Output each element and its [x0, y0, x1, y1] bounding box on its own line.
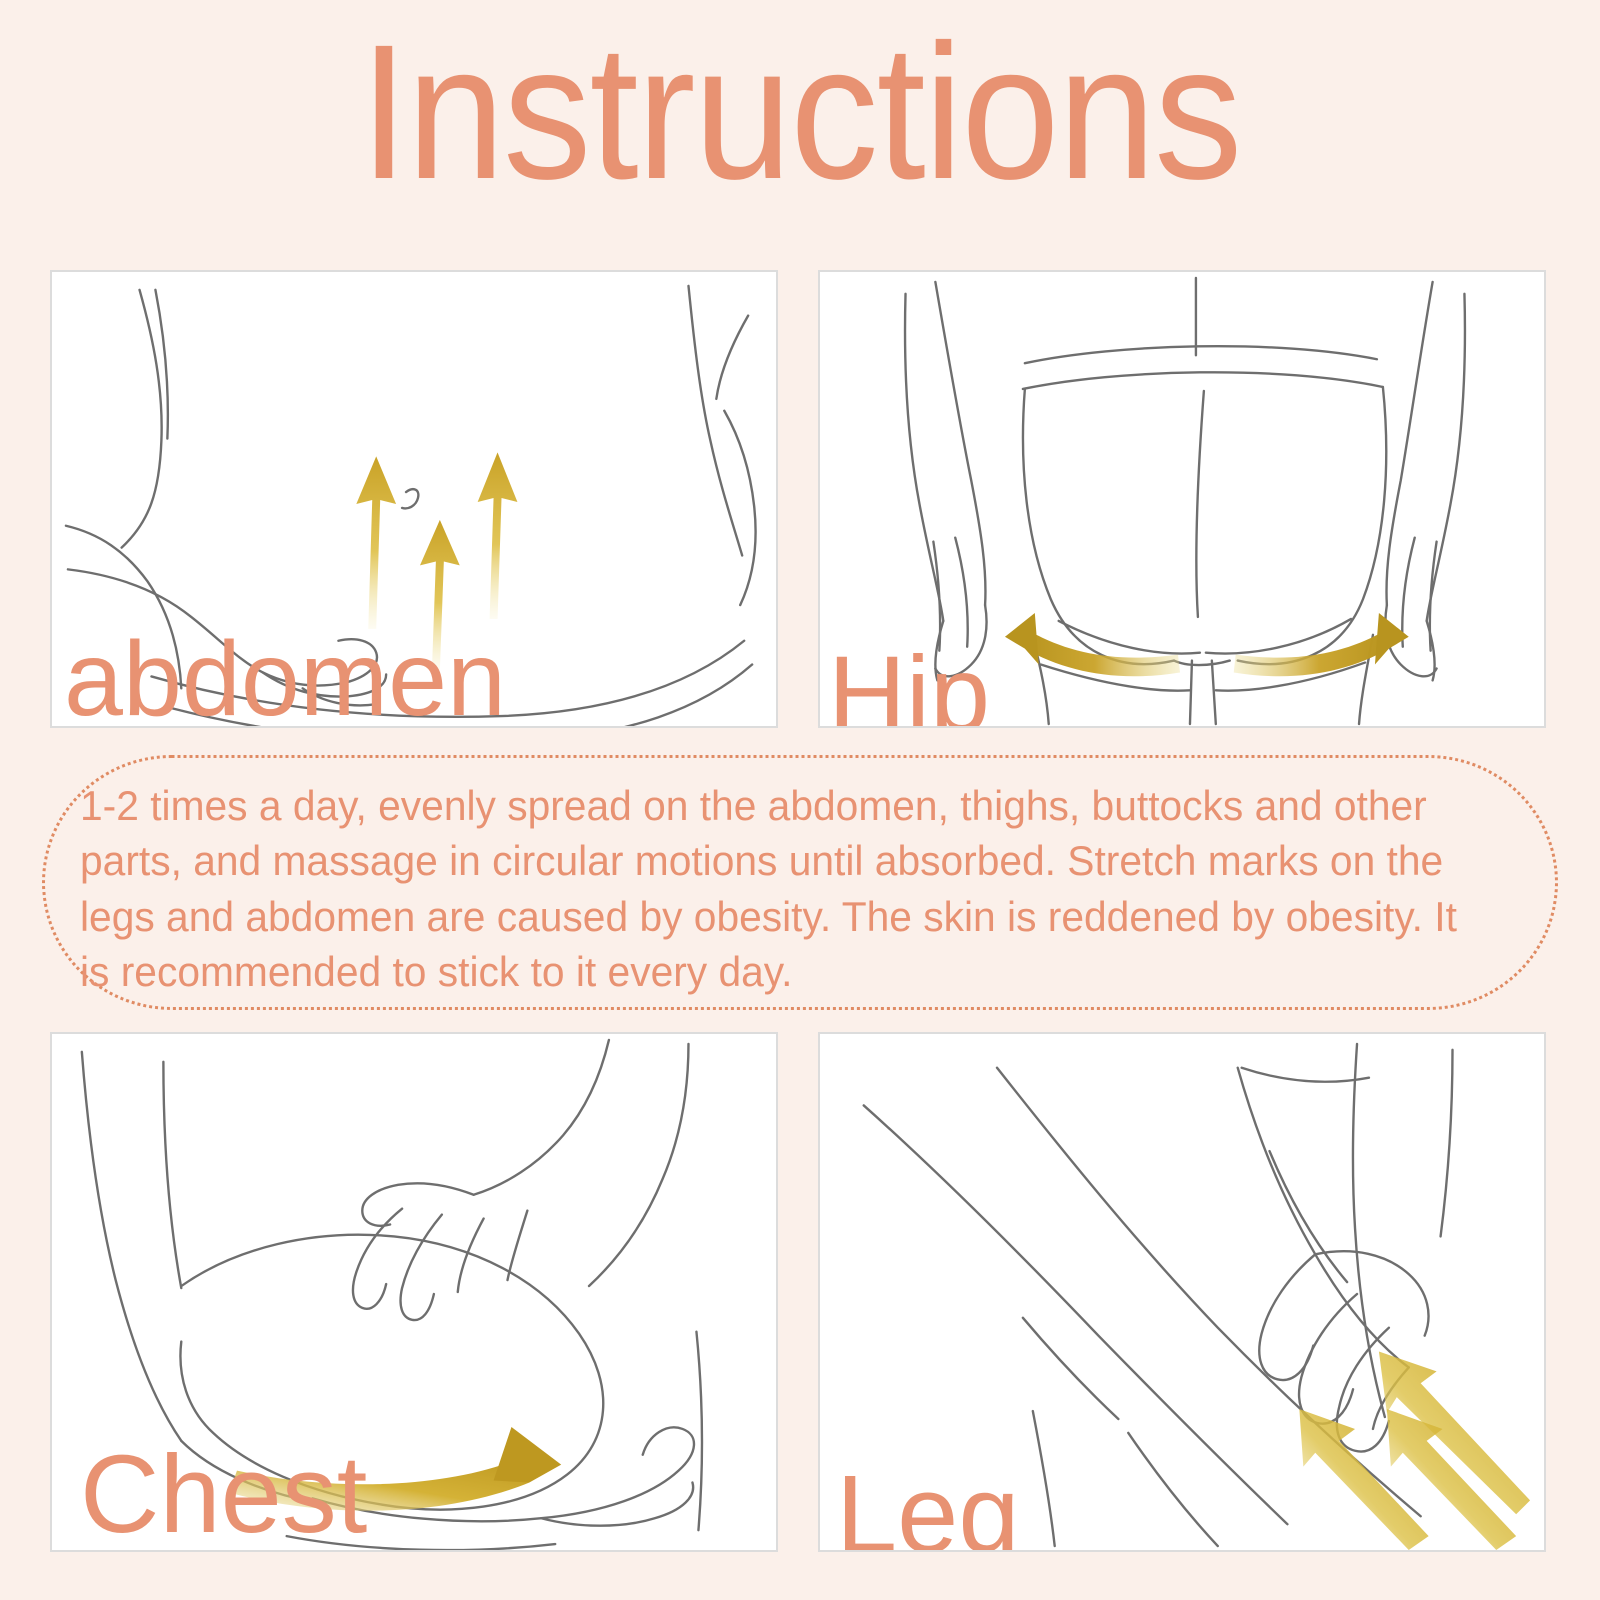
diagonal-arrow-icon	[1299, 1352, 1530, 1550]
instruction-text: 1-2 times a day, evenly spread on the ab…	[80, 778, 1485, 1000]
panel-leg: Leg	[818, 1032, 1546, 1552]
panel-chest: Chest	[50, 1032, 778, 1552]
panel-hip: Hip	[818, 270, 1546, 728]
curved-arrow-icon	[229, 1427, 561, 1511]
curved-arrow-icon	[1005, 613, 1409, 676]
hip-illustration	[820, 272, 1544, 726]
up-arrow-icon	[356, 452, 517, 670]
panel-abdomen: abdomen	[50, 270, 778, 728]
page-title: Instructions	[64, 16, 1536, 208]
chest-illustration	[52, 1034, 776, 1550]
leg-illustration	[820, 1034, 1544, 1550]
abdomen-illustration	[52, 272, 776, 726]
